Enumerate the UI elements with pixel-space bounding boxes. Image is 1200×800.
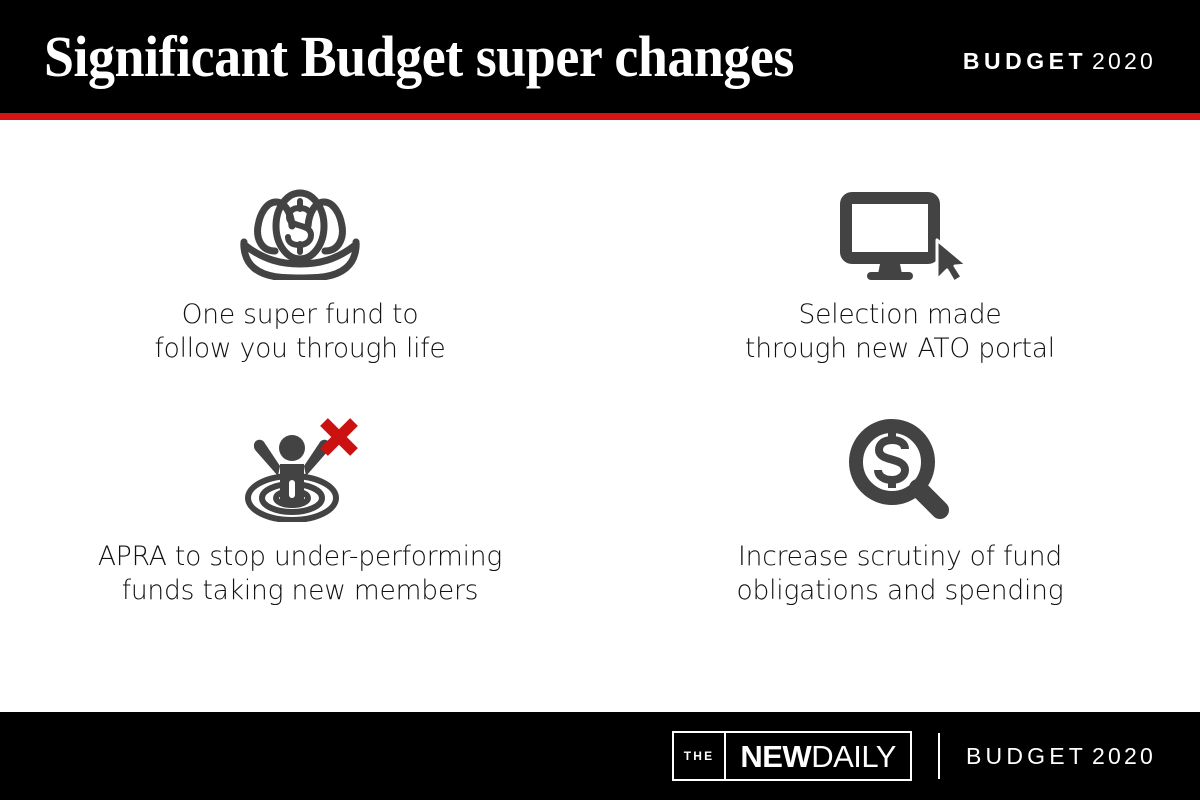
page-title: Significant Budget super changes [44, 26, 794, 88]
item-caption-2-line1: APRA to stop under-performing [98, 540, 502, 574]
red-divider-rule [0, 113, 1200, 120]
item-caption-0-line1: One super fund to [154, 298, 445, 332]
footer-budget-year: 2020 [1092, 743, 1156, 769]
items-grid: One super fund to follow you through lif… [0, 120, 1200, 712]
icon-container-0 [234, 170, 366, 280]
footer-bar: THE NEWDAILY BUDGET2020 [0, 712, 1200, 800]
magnifier-dollar-icon [848, 418, 952, 522]
icon-container-2 [240, 410, 360, 522]
monitor-cursor-icon [834, 188, 966, 280]
item-caption-1: Selection made through new ATO portal [745, 298, 1055, 366]
item-card-3: Increase scrutiny of fund obligations an… [600, 410, 1200, 658]
logo-new-word: NEW [740, 741, 811, 772]
item-card-0: One super fund to follow you through lif… [0, 170, 600, 418]
footer-budget-word: BUDGET [966, 743, 1087, 769]
footer-divider [938, 733, 940, 779]
logo-the-text: THE [674, 733, 727, 779]
item-caption-2: APRA to stop under-performing funds taki… [98, 540, 502, 608]
the-new-daily-logo: THE NEWDAILY [672, 731, 912, 781]
footer-content: THE NEWDAILY BUDGET2020 [672, 731, 1156, 781]
header-bar: Significant Budget super changes BUDGET2… [0, 0, 1200, 113]
header-budget-word: BUDGET [963, 48, 1087, 74]
logo-newdaily-text: NEWDAILY [726, 733, 910, 779]
item-card-2: APRA to stop under-performing funds taki… [0, 410, 600, 658]
item-card-1: Selection made through new ATO portal [600, 170, 1200, 418]
item-caption-3: Increase scrutiny of fund obligations an… [737, 540, 1064, 608]
sinking-person-red-x-icon [240, 418, 360, 522]
item-caption-1-line2: through new ATO portal [745, 332, 1055, 366]
item-caption-2-line2: funds taking new members [98, 574, 502, 608]
logo-daily-word: DAILY [811, 741, 896, 772]
item-caption-3-line1: Increase scrutiny of fund [737, 540, 1064, 574]
icon-container-1 [834, 170, 966, 280]
icon-container-3 [848, 410, 952, 522]
header-budget-year: 2020 [1092, 48, 1156, 74]
item-caption-0: One super fund to follow you through lif… [154, 298, 445, 366]
nest-egg-dollar-icon [234, 188, 366, 280]
infographic-root: Significant Budget super changes BUDGET2… [0, 0, 1200, 800]
item-caption-0-line2: follow you through life [154, 332, 445, 366]
footer-budget-label: BUDGET2020 [966, 743, 1156, 769]
item-caption-3-line2: obligations and spending [737, 574, 1064, 608]
header-budget-label: BUDGET2020 [963, 48, 1156, 74]
item-caption-1-line1: Selection made [745, 298, 1055, 332]
